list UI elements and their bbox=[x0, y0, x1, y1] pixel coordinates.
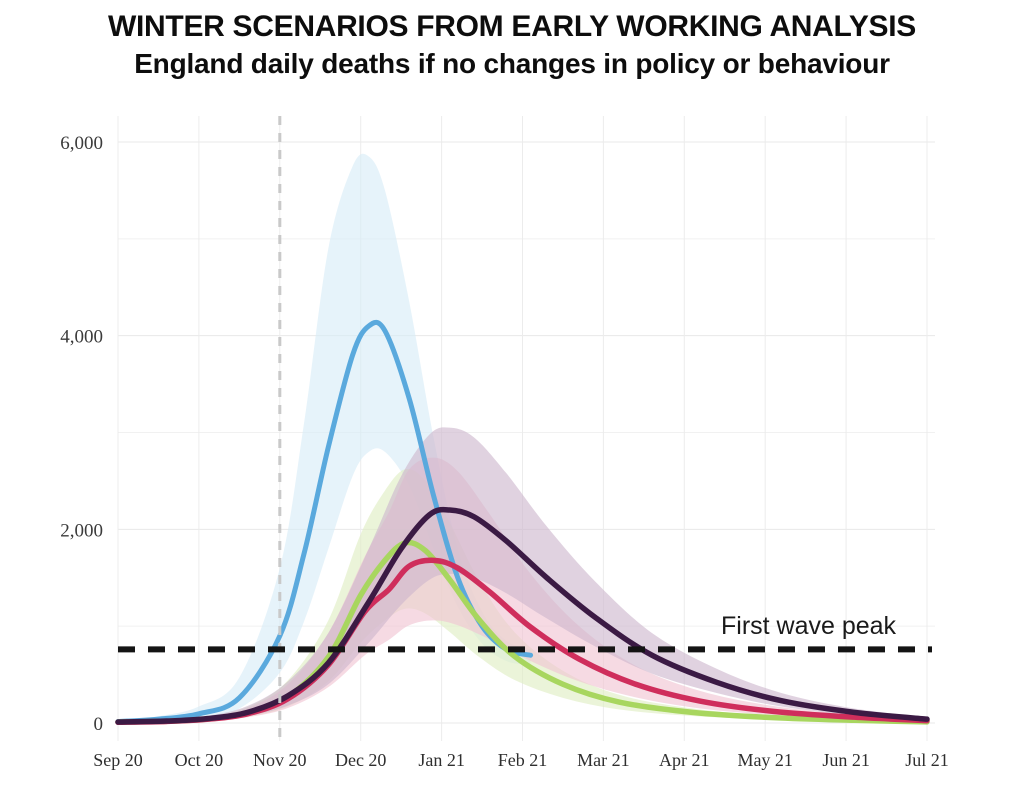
x-tick-label: Jul 21 bbox=[905, 750, 949, 770]
x-tick-label: Dec 20 bbox=[335, 750, 386, 770]
x-tick-label: Nov 20 bbox=[253, 750, 307, 770]
x-axis-tick-labels: Sep 20Oct 20Nov 20Dec 20Jan 21Feb 21Mar … bbox=[93, 750, 949, 770]
y-tick-label: 0 bbox=[94, 714, 104, 735]
y-tick-label: 6,000 bbox=[60, 133, 103, 154]
title-block: WINTER SCENARIOS FROM EARLY WORKING ANAL… bbox=[0, 8, 1024, 82]
x-tick-label: Mar 21 bbox=[577, 750, 630, 770]
y-axis-tick-labels: 02,0004,0006,000 bbox=[60, 133, 103, 735]
x-tick-label: Sep 20 bbox=[93, 750, 143, 770]
chart-figure: WINTER SCENARIOS FROM EARLY WORKING ANAL… bbox=[0, 0, 1024, 799]
line-chart-plot: First wave peak 02,0004,0006,000 Sep 20O… bbox=[0, 99, 1024, 799]
first-wave-peak-label: First wave peak bbox=[721, 612, 897, 640]
x-tick-label: May 21 bbox=[737, 750, 793, 770]
y-tick-label: 2,000 bbox=[60, 520, 103, 541]
x-tick-label: Feb 21 bbox=[498, 750, 548, 770]
x-tick-label: Jun 21 bbox=[822, 750, 870, 770]
x-tick-label: Jan 21 bbox=[418, 750, 465, 770]
page-title: WINTER SCENARIOS FROM EARLY WORKING ANAL… bbox=[0, 8, 1024, 46]
y-tick-label: 4,000 bbox=[60, 327, 103, 348]
x-tick-label: Apr 21 bbox=[659, 750, 710, 770]
x-tick-label: Oct 20 bbox=[175, 750, 224, 770]
page-subtitle: England daily deaths if no changes in po… bbox=[0, 46, 1024, 82]
